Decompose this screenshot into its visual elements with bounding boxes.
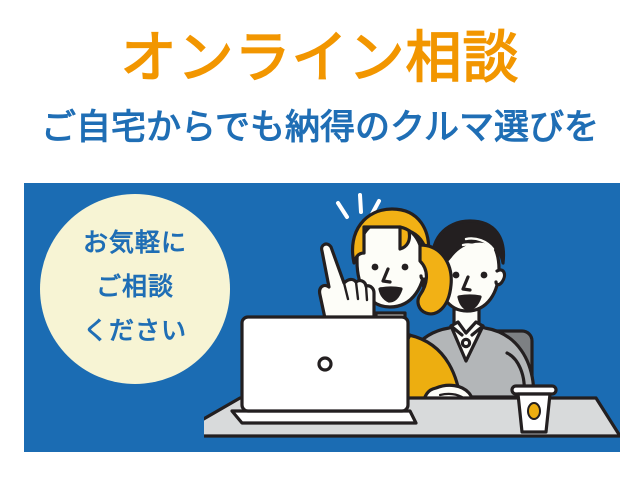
online-consultation-banner: オンライン相談 ご自宅からでも納得のクルマ選びを お気軽に ご相談 ください bbox=[0, 0, 640, 480]
badge-line-1: お気軽に bbox=[40, 221, 230, 265]
badge-line-3: ください bbox=[40, 309, 230, 353]
badge-text: お気軽に ご相談 ください bbox=[40, 221, 230, 353]
headline-area: オンライン相談 ご自宅からでも納得のクルマ選びを bbox=[0, 0, 640, 175]
badge-line-2: ご相談 bbox=[40, 265, 230, 309]
illustration-panel: お気軽に ご相談 ください bbox=[24, 183, 620, 452]
page-title: オンライン相談 bbox=[0, 28, 640, 90]
online-consultation-illustration bbox=[204, 183, 620, 452]
page-subtitle: ご自宅からでも納得のクルマ選びを bbox=[0, 104, 640, 152]
laptop-icon bbox=[232, 317, 416, 423]
